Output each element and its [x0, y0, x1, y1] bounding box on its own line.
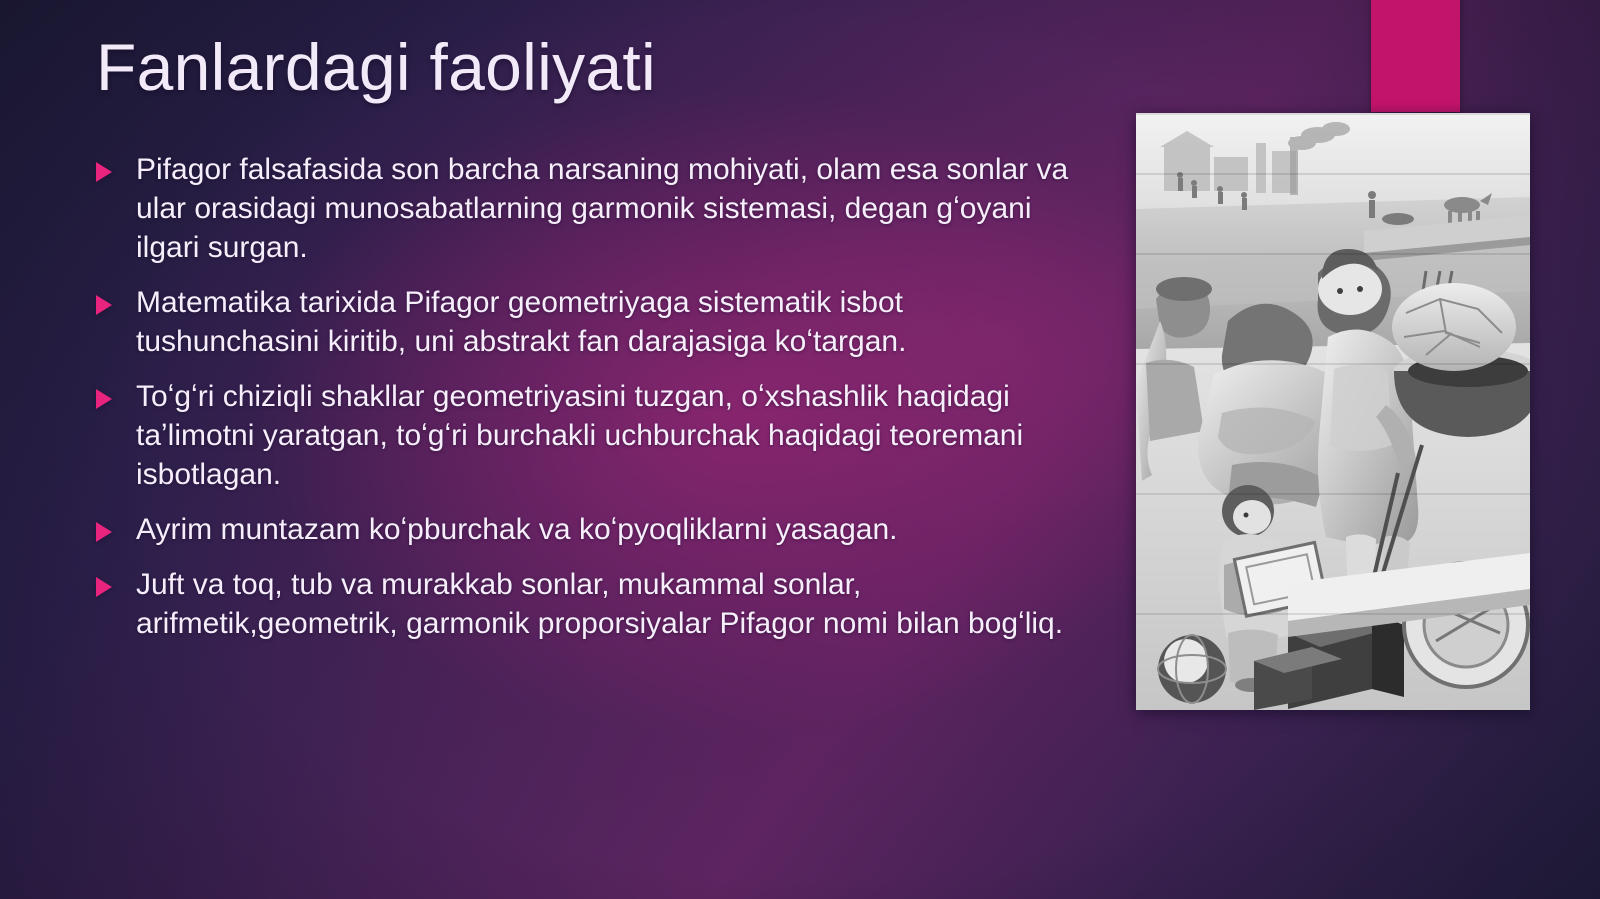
slide-title: Fanlardagi faoliyati [96, 33, 656, 102]
triangle-right-icon [96, 150, 136, 182]
bullet-text: Toʻgʻri chiziqli shakllar geometriyasini… [136, 377, 1086, 494]
bullet-item: Juft va toq, tub va murakkab sonlar, muk… [96, 565, 1086, 643]
bullet-item: Matematika tarixida Pifagor geometriyaga… [96, 283, 1086, 361]
bullet-text: Pifagor falsafasida son barcha narsaning… [136, 150, 1086, 267]
triangle-right-icon [96, 510, 136, 542]
triangle-right-icon [96, 377, 136, 409]
slide-illustration [1136, 113, 1530, 710]
presentation-slide: Fanlardagi faoliyati Pifagor falsafasida… [0, 0, 1600, 899]
bullet-text: Matematika tarixida Pifagor geometriyaga… [136, 283, 1086, 361]
bullet-item: Pifagor falsafasida son barcha narsaning… [96, 150, 1086, 267]
accent-bar [1371, 0, 1460, 112]
triangle-right-icon [96, 283, 136, 315]
bullet-item: Toʻgʻri chiziqli shakllar geometriyasini… [96, 377, 1086, 494]
triangle-right-icon [96, 565, 136, 597]
bullet-text: Juft va toq, tub va murakkab sonlar, muk… [136, 565, 1086, 643]
engraving-artwork [1136, 113, 1530, 710]
bullet-item: Ayrim muntazam koʻpburchak va koʻpyoqlik… [96, 510, 1086, 549]
bullet-text: Ayrim muntazam koʻpburchak va koʻpyoqlik… [136, 510, 1086, 549]
slide-body: Pifagor falsafasida son barcha narsaning… [96, 150, 1086, 643]
